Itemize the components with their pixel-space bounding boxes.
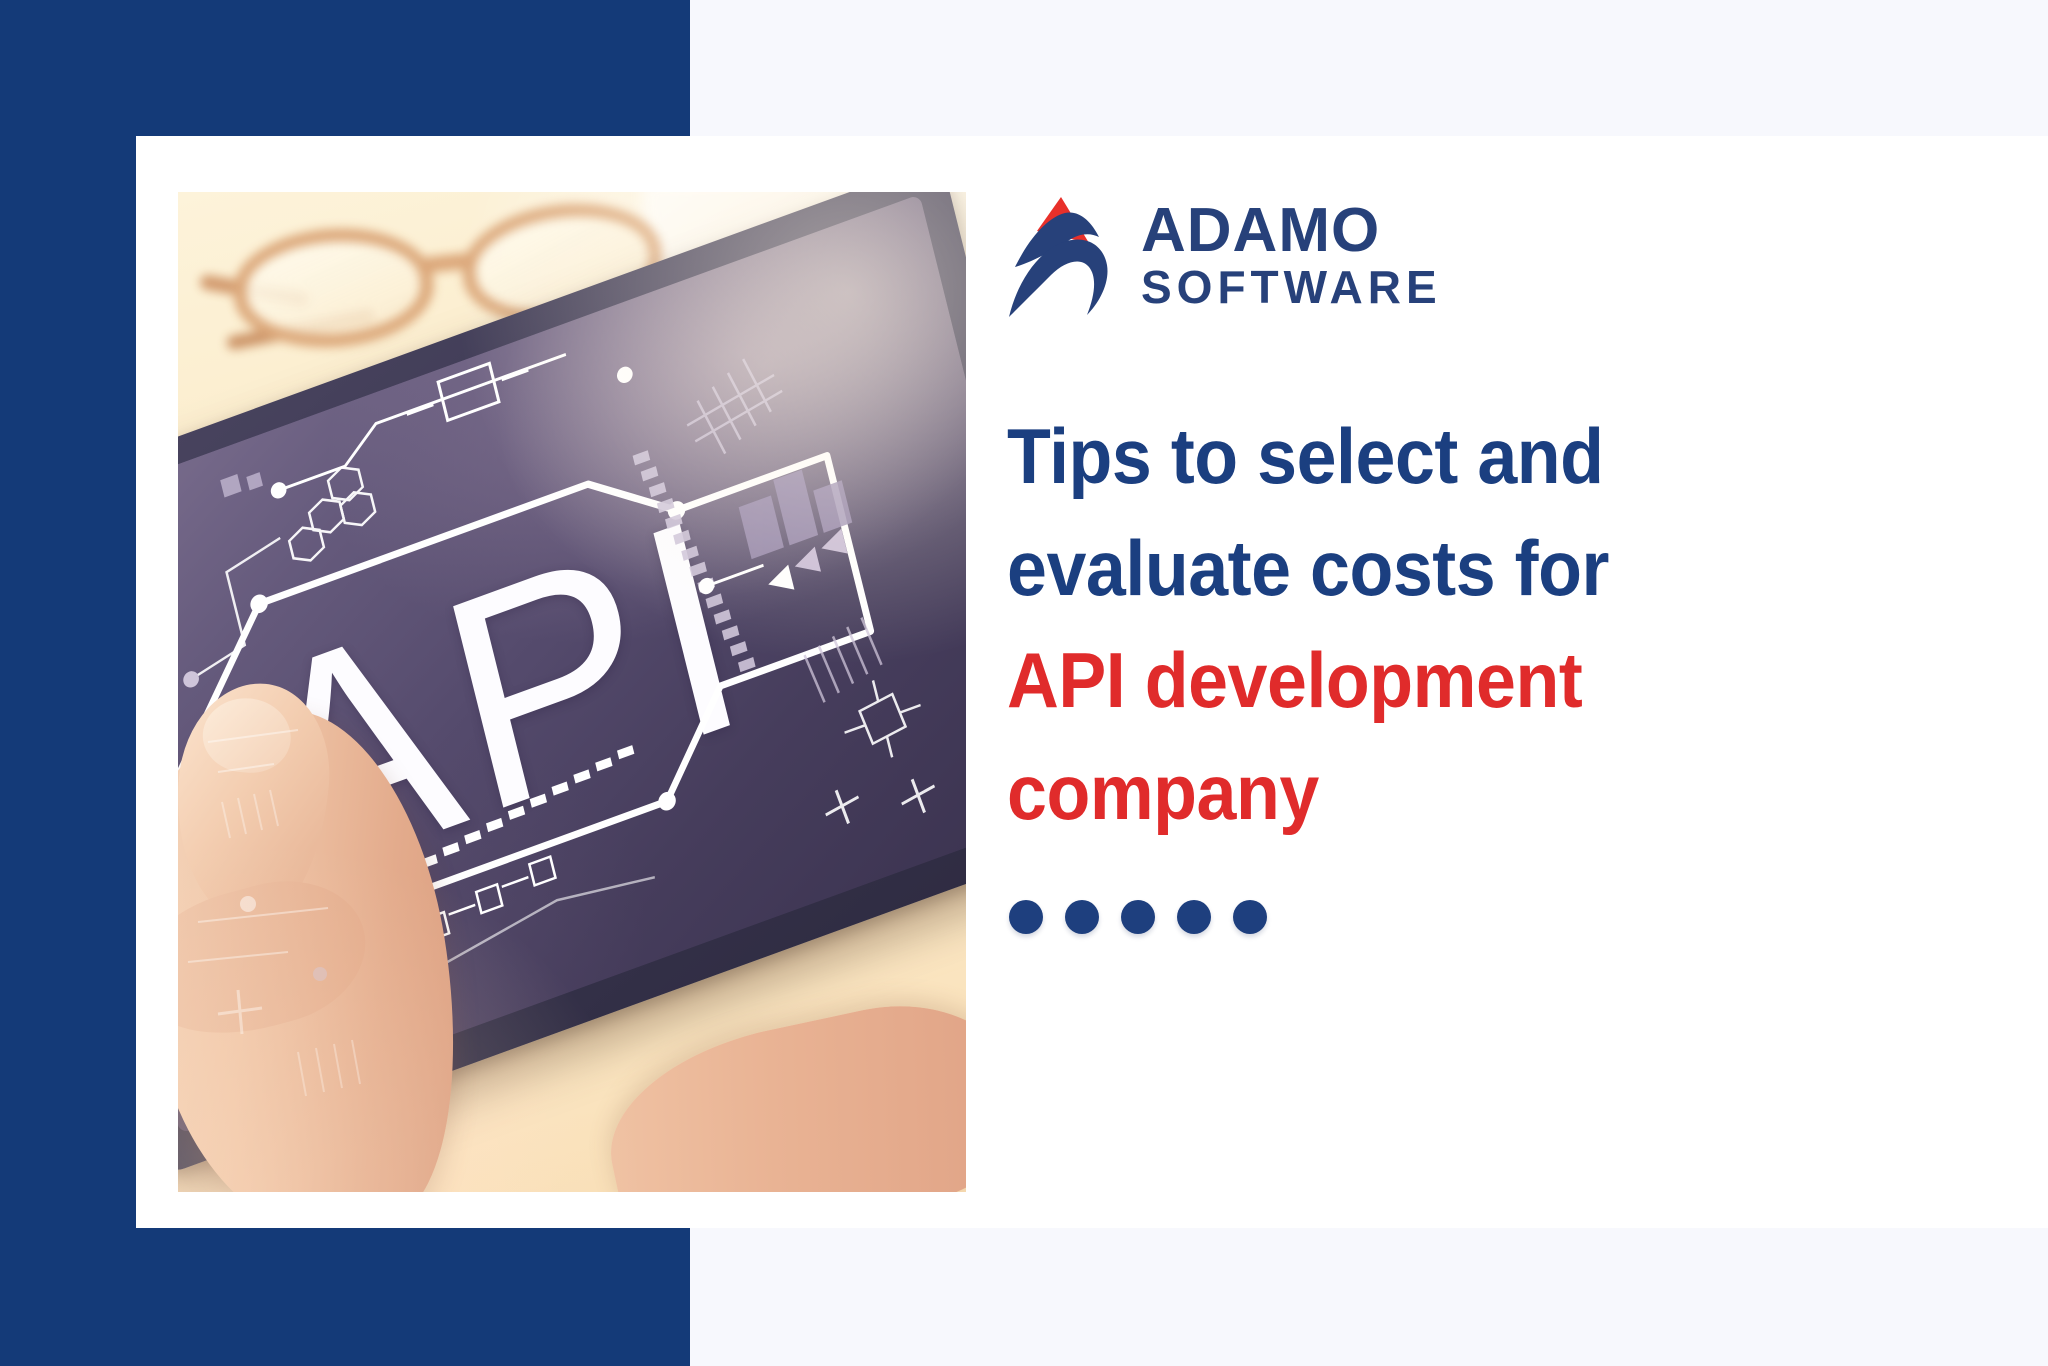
headline-line-3: API development	[1007, 624, 1927, 736]
decorative-dots	[1009, 900, 2007, 934]
dot	[1177, 900, 1211, 934]
hero-photo: API	[178, 192, 966, 1192]
headline-line-4: company	[1007, 736, 1927, 848]
brand-name-secondary: SOFTWARE	[1141, 262, 1442, 313]
headline-line-2: evaluate costs for	[1007, 512, 1927, 624]
dot	[1009, 900, 1043, 934]
dot	[1121, 900, 1155, 934]
adamo-arrow-logo-icon	[1007, 191, 1115, 321]
hud-overlay-hand	[178, 622, 508, 1182]
brand-wordmark: ADAMO SOFTWARE	[1141, 199, 1442, 313]
brand-name-primary: ADAMO	[1141, 199, 1442, 262]
dot	[1065, 900, 1099, 934]
headline-line-1: Tips to select and	[1007, 400, 1927, 512]
content-column: ADAMO SOFTWARE Tips to select and evalua…	[1007, 186, 2007, 934]
headline: Tips to select and evaluate costs for AP…	[1007, 400, 2007, 848]
dot	[1233, 900, 1267, 934]
brand-logo: ADAMO SOFTWARE	[1007, 186, 2007, 326]
